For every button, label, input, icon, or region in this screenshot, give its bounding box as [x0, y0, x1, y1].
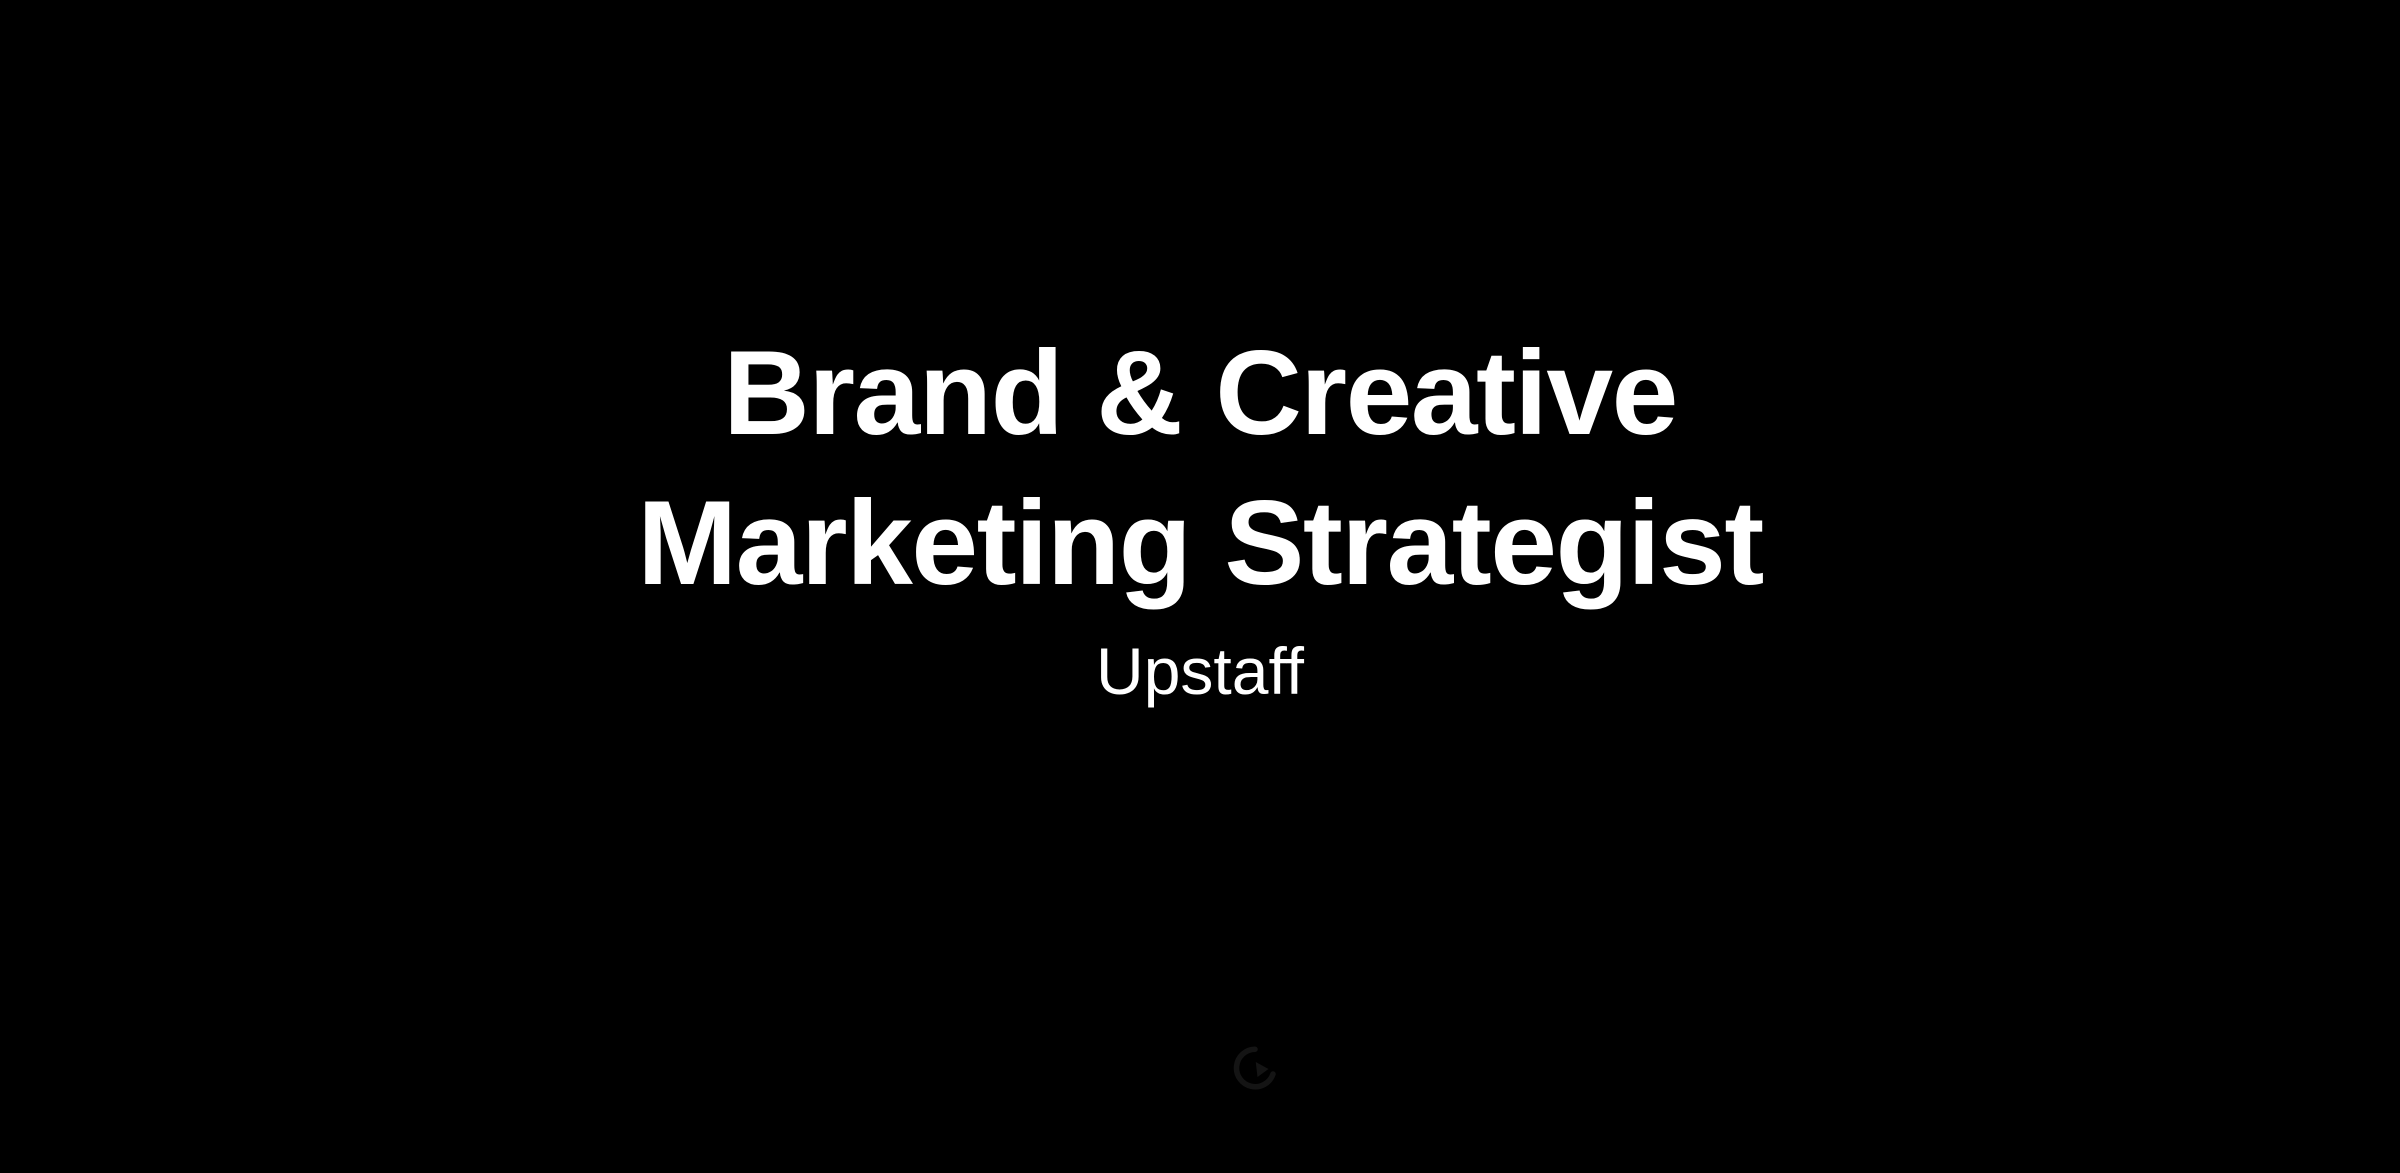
refresh-icon[interactable]: [1225, 1038, 1285, 1098]
page-subtitle: Upstaff: [0, 630, 2400, 712]
refresh-icon-glyph: [1225, 1038, 1285, 1098]
slide-canvas: Brand & Creative Marketing Strategist Up…: [0, 0, 2400, 1173]
page-title: Brand & Creative Marketing Strategist: [440, 318, 1960, 618]
hero-section: Brand & Creative Marketing Strategist Up…: [0, 0, 2400, 382]
